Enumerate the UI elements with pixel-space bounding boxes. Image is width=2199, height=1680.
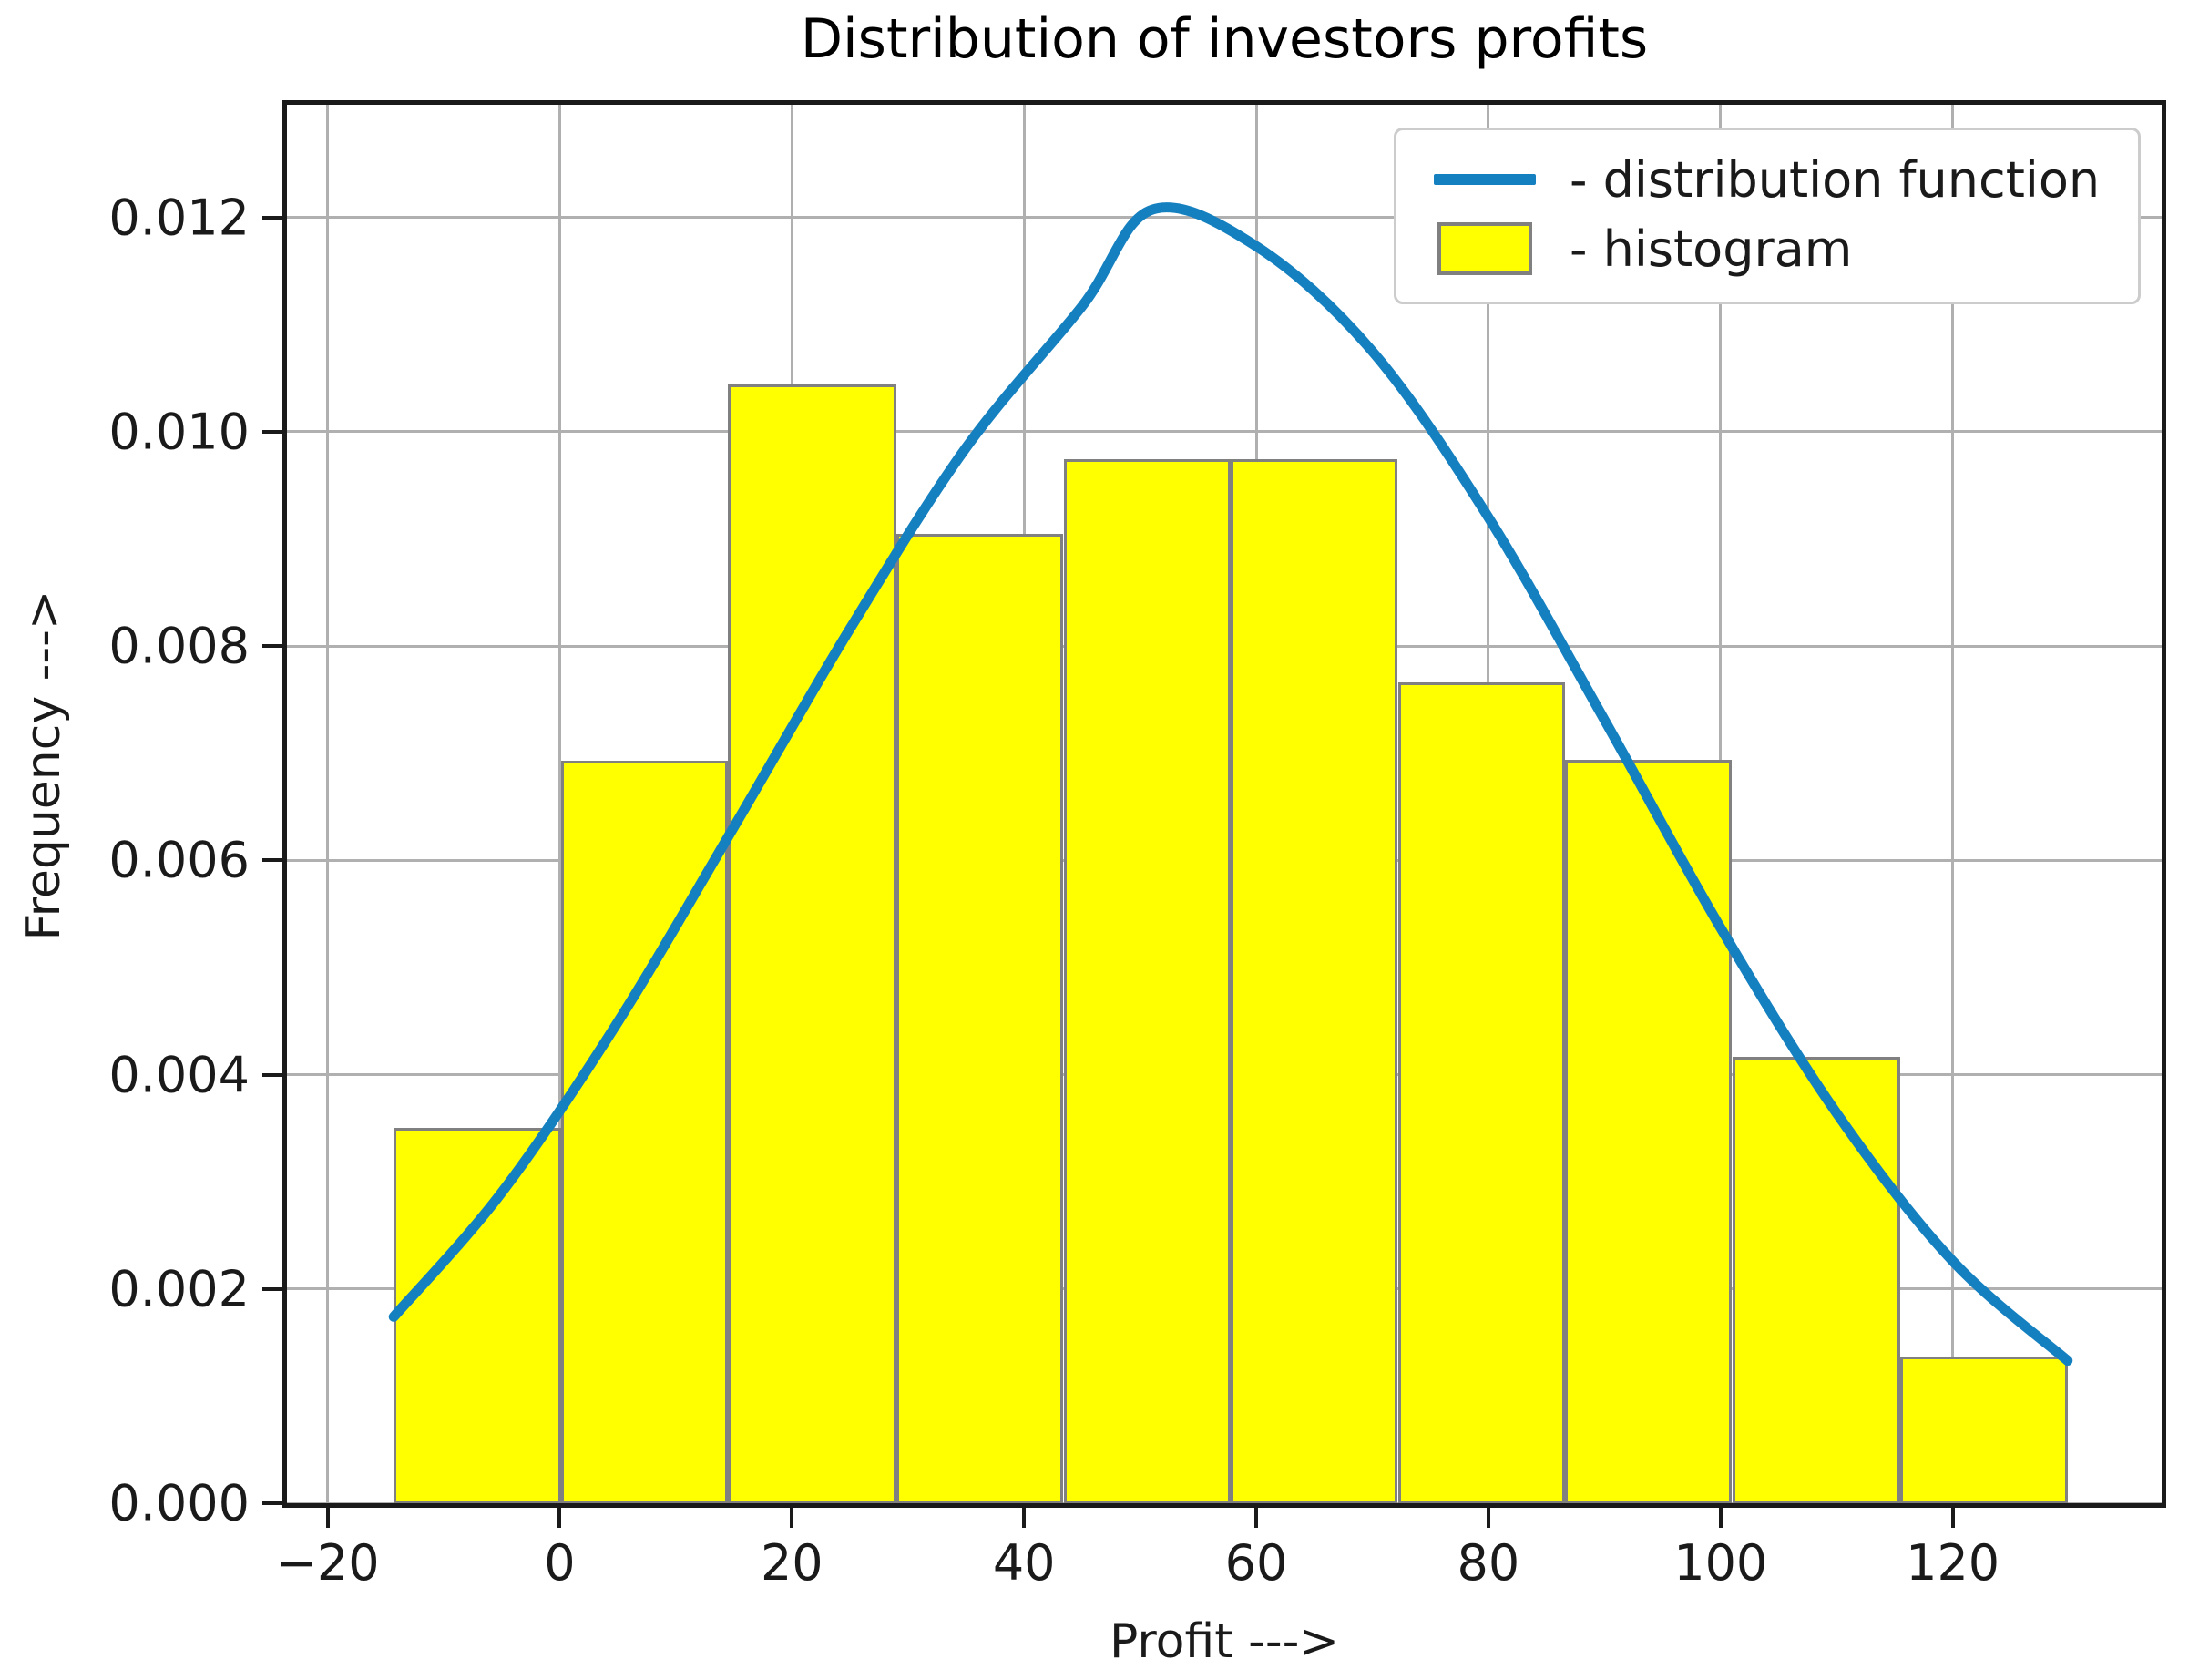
y-tick-mark: [262, 1287, 282, 1291]
distribution-curve: [287, 105, 2162, 1503]
y-tick-mark: [262, 216, 282, 220]
y-tick-label: 0.000: [108, 1475, 250, 1532]
x-axis-label: Profit --->: [282, 1614, 2166, 1669]
x-tick-label: 60: [1225, 1534, 1288, 1592]
y-tick-mark: [262, 644, 282, 648]
legend-item-histogram[interactable]: - histogram: [1417, 214, 2118, 283]
x-tick-label: −20: [276, 1534, 380, 1592]
y-tick-label: 0.008: [108, 618, 250, 675]
legend-label: - distribution function: [1570, 151, 2100, 209]
y-tick-label: 0.002: [108, 1260, 250, 1317]
x-tick-label: 100: [1673, 1534, 1767, 1592]
legend-line-swatch-icon: [1417, 174, 1553, 185]
legend-label: - histogram: [1570, 220, 1852, 278]
plot-inner: [287, 105, 2162, 1503]
y-tick-label: 0.006: [108, 832, 250, 889]
page-title: Distribution of investors profits: [282, 7, 2166, 71]
y-tick-mark: [262, 1073, 282, 1077]
legend-item-distribution-function[interactable]: - distribution function: [1417, 145, 2118, 214]
x-tick-mark: [790, 1508, 793, 1528]
plot-area: [282, 100, 2166, 1508]
y-tick-mark: [262, 1501, 282, 1505]
x-tick-mark: [326, 1508, 330, 1528]
x-tick-mark: [1022, 1508, 1026, 1528]
x-tick-mark: [557, 1508, 561, 1528]
x-tick-mark: [1719, 1508, 1723, 1528]
x-tick-mark: [1487, 1508, 1490, 1528]
y-axis-label: Frequency --->: [16, 401, 71, 1130]
x-tick-mark: [1254, 1508, 1258, 1528]
x-tick-label: 80: [1457, 1534, 1520, 1592]
x-tick-mark: [1951, 1508, 1955, 1528]
legend-patch-swatch-icon: [1417, 222, 1553, 275]
y-tick-mark: [262, 430, 282, 434]
x-tick-label: 120: [1906, 1534, 2000, 1592]
y-tick-label: 0.010: [108, 403, 250, 460]
y-tick-label: 0.004: [108, 1046, 250, 1103]
y-tick-mark: [262, 858, 282, 862]
figure-canvas: Distribution of investors profits −20020…: [0, 0, 2199, 1680]
y-tick-label: 0.012: [108, 189, 250, 246]
distribution-curve-path: [394, 208, 2068, 1361]
x-tick-label: 0: [544, 1534, 575, 1592]
legend: - distribution function - histogram: [1394, 128, 2141, 304]
x-tick-label: 20: [761, 1534, 823, 1592]
x-tick-label: 40: [993, 1534, 1056, 1592]
